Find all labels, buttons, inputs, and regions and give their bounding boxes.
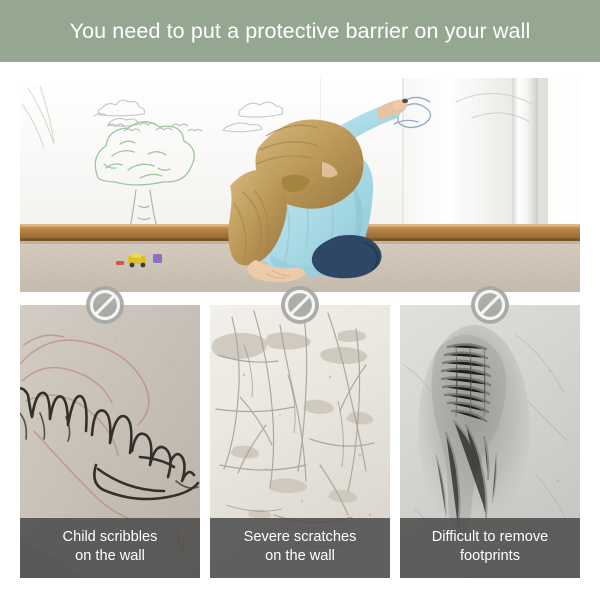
caption-line-1: Child scribbles bbox=[63, 528, 158, 547]
panel-caption: Child scribbles on the wall bbox=[20, 518, 200, 578]
caption-line-2: on the wall bbox=[75, 547, 145, 566]
prohibition-icon bbox=[85, 285, 125, 325]
caption-line-1: Difficult to remove bbox=[432, 528, 549, 547]
prohibition-icon bbox=[280, 285, 320, 325]
panel-caption: Difficult to remove footprints bbox=[400, 518, 580, 578]
header-banner: You need to put a protective barrier on … bbox=[0, 0, 600, 62]
caption-line-2: footprints bbox=[460, 547, 520, 566]
caption-line-2: on the wall bbox=[265, 547, 335, 566]
page-title: You need to put a protective barrier on … bbox=[70, 19, 531, 44]
hero-photo-illustration bbox=[20, 78, 580, 292]
caption-line-1: Severe scratches bbox=[244, 528, 357, 547]
problem-panel-severe-scratches[interactable]: Severe scratches on the wall bbox=[210, 305, 390, 578]
problem-panel-child-scribbles[interactable]: Child scribbles on the wall bbox=[20, 305, 200, 578]
hero-photo bbox=[20, 78, 580, 292]
problem-panel-row: Child scribbles on the wall bbox=[0, 305, 600, 578]
panel-caption: Severe scratches on the wall bbox=[210, 518, 390, 578]
problem-panel-footprints[interactable]: Difficult to remove footprints bbox=[400, 305, 580, 578]
prohibition-icon bbox=[470, 285, 510, 325]
